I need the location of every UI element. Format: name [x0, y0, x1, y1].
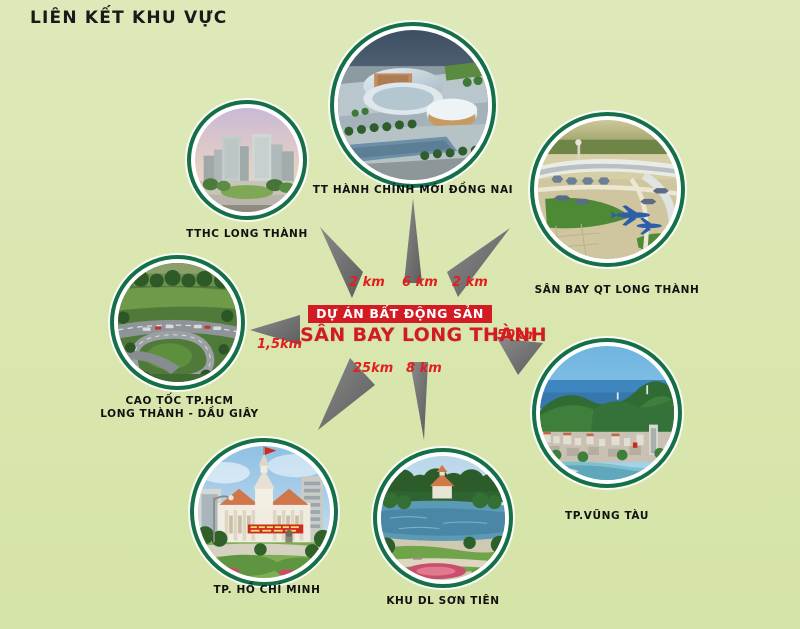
caption-san-bay-qt: SÂN BAY QT LONG THÀNH	[522, 284, 712, 297]
circle-tp-ho-chi-minh[interactable]	[190, 438, 338, 586]
center-label-line2: SÂN BAY LONG THÀNH	[300, 324, 500, 346]
caption-tthc-long-thanh: TTHC LONG THÀNH	[167, 228, 327, 241]
page-title: LIÊN KẾT KHU VỰC	[30, 8, 227, 28]
circle-tp-vung-tau[interactable]	[532, 338, 682, 488]
infographic-canvas: LIÊN KẾT KHU VỰC	[0, 0, 800, 629]
scene-hcmc-hall	[198, 446, 330, 578]
distance-bottom-center: 8 km	[406, 361, 442, 376]
scene-lake-park	[381, 456, 505, 580]
arrow-to-tt-hanh-chinh	[404, 198, 422, 283]
caption-khu-dl-son-tien: KHU DL SƠN TIÊN	[368, 595, 518, 608]
scene-admin-center	[338, 30, 488, 180]
circle-cao-toc[interactable]	[110, 255, 245, 390]
circle-inner-tthc-long-thanh	[193, 106, 301, 214]
circle-tthc-long-thanh[interactable]	[187, 100, 307, 220]
circle-inner-tp-ho-chi-minh	[196, 444, 332, 580]
scene-city-towers	[195, 108, 299, 212]
circle-inner-tt-hanh-chinh	[336, 28, 490, 182]
distance-top-left: 2 km	[349, 275, 385, 290]
distance-left: 1,5km	[257, 337, 302, 352]
circle-inner-tp-vung-tau	[538, 344, 676, 482]
scene-coastal-city	[540, 346, 674, 480]
circle-tt-hanh-chinh[interactable]	[330, 22, 496, 188]
distance-top-center: 6 km	[402, 275, 438, 290]
scene-airport-aerial	[538, 120, 677, 259]
circle-san-bay-qt[interactable]	[530, 112, 685, 267]
circle-inner-san-bay-qt	[536, 118, 679, 261]
center-label-line1: DỰ ÁN BẤT ĐỘNG SẢN	[308, 305, 492, 323]
center-project-label[interactable]: DỰ ÁN BẤT ĐỘNG SẢN SÂN BAY LONG THÀNH	[300, 305, 500, 346]
circle-khu-dl-son-tien[interactable]	[373, 448, 513, 588]
distance-bottom-left: 25km	[353, 361, 393, 376]
distance-top-right: 2 km	[452, 275, 488, 290]
caption-tp-vung-tau: TP.VŨNG TÀU	[527, 510, 687, 523]
caption-tt-hanh-chinh: TT HÀNH CHÍNH MỚI ĐỒNG NAI	[303, 184, 523, 197]
circle-inner-cao-toc	[116, 261, 239, 384]
scene-highway-interchange	[118, 263, 237, 382]
circle-inner-khu-dl-son-tien	[379, 454, 507, 582]
caption-cao-toc: CAO TỐC TP.HCM LONG THÀNH - DẦU GIÂY	[87, 395, 272, 421]
caption-tp-ho-chi-minh: TP. HỒ CHÍ MINH	[182, 584, 352, 597]
